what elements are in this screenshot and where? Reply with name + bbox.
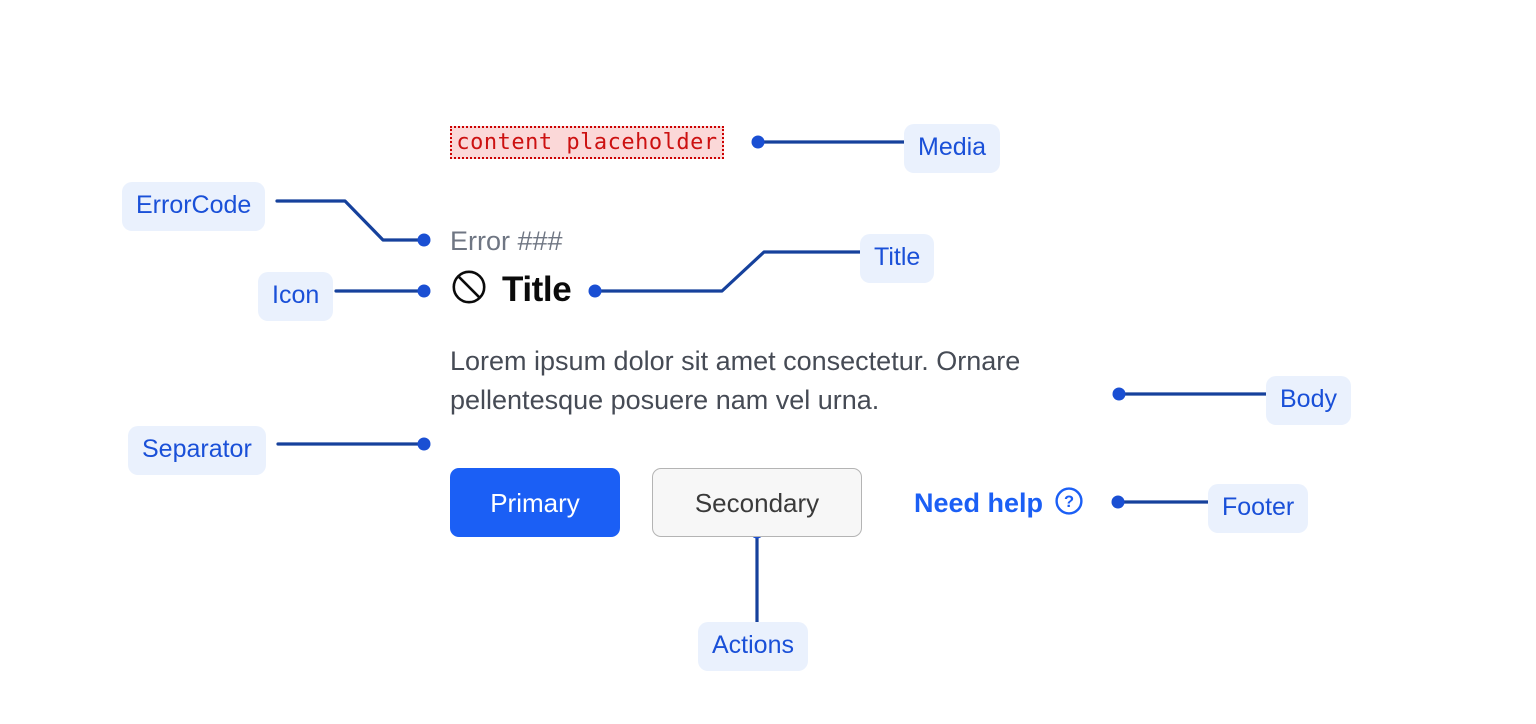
annotated-component-diagram: content placeholder Error ### Title Lore… [0,0,1536,724]
annotation-badge-body[interactable]: Body [1266,376,1351,425]
need-help-link[interactable]: Need help ? [914,486,1084,521]
annotation-badge-actions[interactable]: Actions [698,622,808,671]
secondary-button[interactable]: Secondary [652,468,862,537]
annotation-badge-errorcode[interactable]: ErrorCode [122,182,265,231]
svg-text:?: ? [1064,493,1074,511]
annotation-badge-footer[interactable]: Footer [1208,484,1308,533]
connector-dot-errorcode [418,234,431,247]
connector-dot-footer [1112,496,1125,509]
connector-title [600,252,861,291]
annotation-badge-media[interactable]: Media [904,124,1000,173]
primary-button[interactable]: Primary [450,468,620,537]
connector-dot-separator [418,438,431,451]
body-text: Lorem ipsum dolor sit amet consectetur. … [450,342,1110,420]
media-content-placeholder: content placeholder [450,126,724,159]
error-code-text: Error ### [450,224,563,258]
question-circle-icon[interactable]: ? [1054,486,1084,521]
prohibition-icon [450,268,488,311]
connector-errorcode [277,201,420,240]
annotation-badge-icon[interactable]: Icon [258,272,333,321]
connector-dot-body [1113,388,1126,401]
connector-dot-title [589,285,602,298]
page-title: Title [502,269,571,311]
annotation-badge-title[interactable]: Title [860,234,934,283]
connector-dot-icon [418,285,431,298]
need-help-label: Need help [914,490,1043,517]
title-row: Title [450,268,571,311]
connector-dot-media [752,136,765,149]
annotation-badge-separator[interactable]: Separator [128,426,266,475]
